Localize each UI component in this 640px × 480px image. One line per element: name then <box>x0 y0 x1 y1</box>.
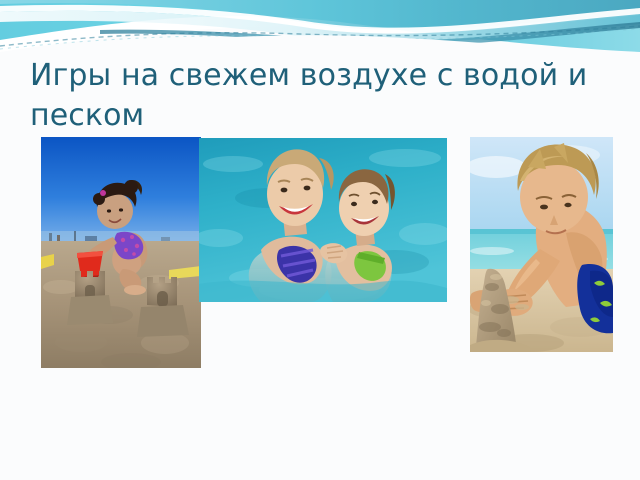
wave-decoration <box>0 0 640 64</box>
picture-sandcastle-girl <box>41 137 201 368</box>
presentation-slide: Игры на свежем воздухе с водой и песком <box>0 0 640 480</box>
picture-pool-girls <box>199 138 447 302</box>
page-title: Игры на свежем воздухе с водой и песком <box>30 56 615 136</box>
picture-sandcastle-boy <box>470 137 613 352</box>
